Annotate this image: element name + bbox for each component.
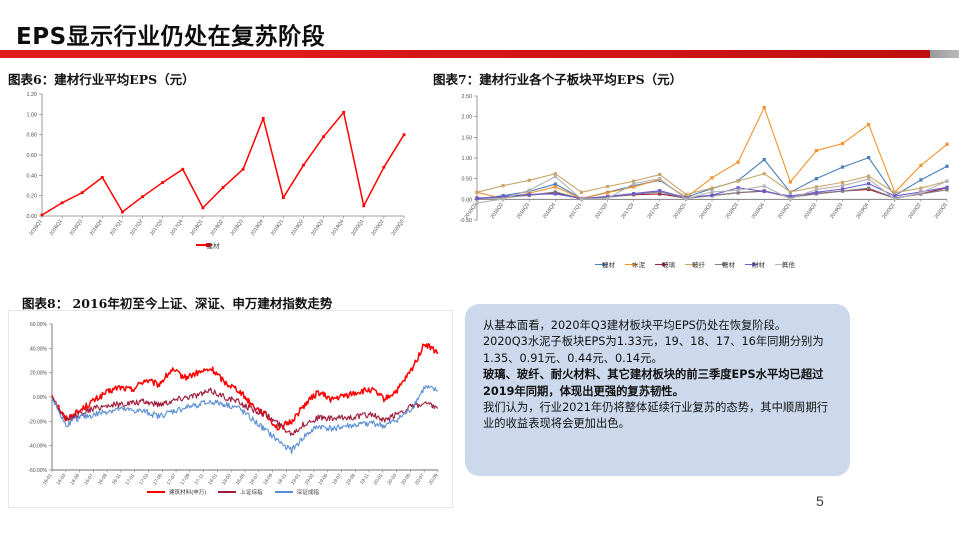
data-point: [554, 182, 557, 185]
x-tick-label: 2017Q1: [568, 202, 583, 220]
x-tick-label: 20-09: [428, 472, 440, 486]
x-tick-label: 2016Q3: [516, 202, 531, 220]
x-tick-label: 2016Q1: [29, 219, 44, 237]
y-tick-label: 0.00: [462, 197, 473, 203]
data-point: [121, 211, 124, 214]
data-point: [945, 143, 948, 146]
x-tick-label: 2018Q3: [725, 202, 740, 220]
data-point: [763, 190, 766, 193]
x-tick-label: 2019Q2: [803, 202, 818, 220]
data-point: [580, 191, 583, 194]
legend-item-其他[interactable]: 其他: [775, 260, 795, 269]
data-point: [403, 133, 406, 136]
data-point: [606, 197, 609, 200]
data-point: [710, 190, 713, 193]
legend-label: 建筑材料(申万): [169, 488, 206, 496]
data-point: [815, 188, 818, 191]
data-point: [815, 149, 818, 152]
y-tick-label: -20.00%: [28, 419, 47, 425]
x-tick-label: 18-05: [235, 472, 247, 486]
y-tick-label: 0.50: [462, 177, 473, 183]
data-point: [528, 179, 531, 182]
x-tick-label: 17-03: [138, 472, 150, 486]
legend-label: 深证成指: [297, 488, 319, 496]
legend-line-swatch: [275, 491, 293, 493]
x-tick-label: 18-07: [248, 472, 260, 486]
data-point: [763, 172, 766, 175]
callout-line: 我们认为，行业2021年仍将整体延续行业复苏的态势，其中顺周期行业的收益表现将会…: [483, 400, 834, 433]
data-point: [554, 172, 557, 175]
x-tick-label: 2020Q1: [350, 219, 365, 237]
data-point: [262, 117, 265, 120]
data-point: [919, 191, 922, 194]
chart-7-plot: -0.500.000.501.001.502.002.502016Q12016Q…: [435, 90, 955, 250]
x-tick-label: 16-09: [97, 472, 109, 486]
data-point: [554, 192, 557, 195]
x-tick-label: 19-07: [331, 472, 343, 486]
x-tick-label: 16-03: [55, 472, 67, 486]
x-tick-label: 2016Q4: [542, 202, 557, 220]
data-point: [632, 192, 635, 195]
legend-label: 建材: [602, 260, 615, 269]
data-point: [528, 189, 531, 192]
x-tick-label: 17-01: [124, 472, 136, 486]
x-tick-label: 2019Q1: [777, 202, 792, 220]
x-tick-label: 16-11: [111, 472, 123, 485]
data-point: [322, 135, 325, 138]
data-point: [242, 168, 245, 171]
x-tick-label: 2020Q2: [907, 202, 922, 220]
figure-7-title: 图表7：建材行业各个子板块平均EPS（元）: [433, 69, 682, 88]
x-tick-label: 2018Q4: [250, 219, 265, 237]
data-point: [789, 194, 792, 197]
legend-item-建材[interactable]: 建材: [595, 260, 615, 269]
x-tick-label: 2020Q3: [391, 219, 406, 237]
data-point: [41, 214, 44, 217]
data-point: [475, 201, 478, 204]
x-tick-label: 19-01: [290, 472, 302, 486]
x-tick-label: 2020Q3: [934, 202, 949, 220]
data-point: [815, 191, 818, 194]
y-tick-label: -40.00%: [28, 444, 47, 450]
data-point: [632, 182, 635, 185]
data-point: [867, 175, 870, 178]
x-tick-label: 2016Q2: [490, 202, 505, 220]
data-point: [580, 197, 583, 200]
data-point: [919, 178, 922, 181]
series-line-建材: [42, 112, 404, 215]
x-tick-label: 20-03: [386, 472, 398, 486]
x-tick-label: 2017Q4: [646, 202, 661, 220]
x-tick-label: 2017Q1: [109, 219, 124, 237]
data-point: [475, 197, 478, 200]
data-point: [362, 204, 365, 207]
data-point: [382, 166, 385, 169]
data-point: [684, 197, 687, 200]
data-point: [841, 181, 844, 184]
x-tick-label: 19-03: [304, 472, 316, 486]
data-point: [867, 156, 870, 159]
legend-label: 其他: [782, 260, 795, 269]
data-point: [893, 191, 896, 194]
x-tick-label: 16-07: [83, 472, 95, 486]
y-tick-label: 0.00: [27, 214, 38, 220]
y-tick-label: 20.00%: [30, 371, 48, 377]
x-tick-label: 2020Q1: [881, 202, 896, 220]
data-point: [919, 187, 922, 190]
y-tick-label: 2.00: [462, 115, 473, 121]
data-point: [554, 175, 557, 178]
figure-6-title: 图表6：建材行业平均EPS（元）: [8, 69, 195, 88]
data-point: [867, 187, 870, 190]
callout-line: 2020Q3水泥子板块EPS为1.33元，19、18、17、16年同期分别为1.…: [483, 334, 834, 367]
data-point: [81, 191, 84, 194]
data-point: [528, 193, 531, 196]
data-point: [502, 184, 505, 187]
x-tick-label: 19-11: [359, 472, 371, 485]
x-tick-label: 2019Q4: [855, 202, 870, 220]
data-point: [282, 196, 285, 199]
chart-figure-6: 0.000.200.400.600.801.001.202016Q12016Q2…: [8, 88, 408, 263]
data-point: [763, 158, 766, 161]
y-tick-label: 1.20: [27, 92, 38, 98]
data-point: [867, 182, 870, 185]
data-point: [945, 165, 948, 168]
legend-label: 建材: [207, 240, 220, 250]
x-tick-label: 2019Q2: [290, 219, 305, 237]
x-tick-label: 2018Q1: [189, 219, 204, 237]
summary-callout-box: 从基本面看，2020年Q3建材板块平均EPS仍处在恢复阶段。2020Q3水泥子板…: [465, 304, 850, 476]
page-title: EPS显示行业仍处在复苏阶段: [16, 17, 325, 51]
y-tick-label: 1.00: [27, 112, 38, 118]
data-point: [710, 187, 713, 190]
legend-item-玻璃[interactable]: 玻璃: [655, 260, 675, 269]
data-point: [181, 168, 184, 171]
data-point: [789, 180, 792, 183]
chart-6-legend: 建材: [8, 240, 408, 250]
x-tick-label: 2016Q2: [49, 219, 64, 237]
x-tick-label: 20-05: [400, 472, 412, 486]
data-point: [632, 185, 635, 188]
legend-item-建材[interactable]: 建材: [196, 240, 219, 250]
data-point: [789, 197, 792, 200]
data-point: [201, 206, 204, 209]
data-point: [710, 176, 713, 179]
data-point: [841, 184, 844, 187]
data-point: [141, 195, 144, 198]
data-point: [684, 193, 687, 196]
legend-item-管材[interactable]: 管材: [715, 260, 735, 269]
data-point: [867, 123, 870, 126]
legend-item-水泥[interactable]: 水泥: [625, 260, 645, 269]
data-point: [893, 197, 896, 200]
data-point: [867, 177, 870, 180]
legend-item-玻纤[interactable]: 玻纤: [685, 260, 705, 269]
data-point: [737, 161, 740, 164]
callout-line: 玻璃、玻纤、耐火材料、其它建材板块的前三季度EPS水平均已超过2019年同期，体…: [483, 367, 834, 400]
x-tick-label: 2019Q4: [330, 219, 345, 237]
legend-label: 管材: [722, 260, 735, 269]
data-point: [606, 191, 609, 194]
data-point: [161, 181, 164, 184]
x-tick-label: 2017Q3: [620, 202, 635, 220]
data-point: [919, 164, 922, 167]
x-tick-label: 2016Q3: [69, 219, 84, 237]
x-tick-label: 2017Q2: [129, 219, 144, 237]
x-tick-label: 2019Q3: [310, 219, 325, 237]
x-tick-label: 17-11: [194, 472, 206, 485]
legend-line-swatch: [218, 491, 236, 493]
chart-figure-7: -0.500.000.501.001.502.002.502016Q12016Q…: [435, 90, 955, 280]
chart-7-legend: 建材水泥玻璃玻纤管材耐材其他: [445, 260, 945, 269]
legend-item-深证成指[interactable]: 深证成指: [275, 488, 319, 496]
data-point: [710, 194, 713, 197]
y-tick-label: 0.60: [27, 153, 38, 159]
data-point: [502, 197, 505, 200]
x-tick-label: 16-05: [69, 472, 81, 486]
data-point: [61, 201, 64, 204]
x-tick-label: 2017Q4: [169, 219, 184, 237]
x-tick-label: 17-05: [152, 472, 164, 486]
data-point: [222, 186, 225, 189]
x-tick-label: 19-05: [317, 472, 329, 486]
chart-6-plot: 0.000.200.400.600.801.001.202016Q12016Q2…: [8, 88, 408, 238]
title-divider-bar: [0, 50, 959, 58]
y-tick-label: 1.50: [462, 135, 473, 141]
x-tick-label: 20-07: [414, 472, 426, 486]
x-tick-label: 20-01: [373, 472, 385, 486]
y-tick-label: 0.20: [27, 194, 38, 200]
y-tick-label: 0.00%: [33, 395, 48, 401]
data-point: [554, 185, 557, 188]
data-point: [841, 142, 844, 145]
data-point: [342, 111, 345, 114]
x-tick-label: 2016Q4: [89, 219, 104, 237]
chart-8-legend: 建筑材料(申万)上证综指深证成指: [68, 488, 398, 496]
x-tick-label: 2020Q2: [370, 219, 385, 237]
y-tick-label: 60.00%: [30, 322, 48, 328]
legend-item-上证综指[interactable]: 上证综指: [218, 488, 262, 496]
data-point: [737, 180, 740, 183]
legend-label: 上证综指: [240, 488, 262, 496]
x-tick-label: 16-01: [42, 472, 54, 486]
x-tick-label: 2017Q2: [594, 202, 609, 220]
legend-line-swatch: [147, 491, 165, 493]
x-tick-label: 17-09: [180, 472, 192, 486]
x-tick-label: 17-07: [166, 472, 178, 486]
chart-8-plot: 60.00%40.00%20.00%0.00%-20.00%-40.00%-60…: [8, 310, 453, 508]
series-line-建筑材料(申万): [52, 344, 438, 430]
y-tick-label: 0.80: [27, 133, 38, 139]
legend-item-耐材[interactable]: 耐材: [745, 260, 765, 269]
x-tick-label: 2017Q3: [149, 219, 164, 237]
data-point: [475, 191, 478, 194]
chart-figure-8: 60.00%40.00%20.00%0.00%-20.00%-40.00%-60…: [8, 310, 453, 508]
x-tick-label: 18-03: [221, 472, 233, 486]
data-point: [302, 164, 305, 167]
x-tick-label: 2018Q4: [751, 202, 766, 220]
legend-item-建筑材料(申万)[interactable]: 建筑材料(申万): [147, 488, 206, 496]
x-tick-label: 2018Q1: [672, 202, 687, 220]
legend-label: 耐材: [752, 260, 765, 269]
data-point: [789, 190, 792, 193]
data-point: [841, 165, 844, 168]
data-point: [815, 177, 818, 180]
data-point: [893, 194, 896, 197]
data-point: [763, 106, 766, 109]
legend-label: 水泥: [632, 260, 645, 269]
y-tick-label: 0.40: [27, 173, 38, 179]
x-tick-label: 2018Q3: [230, 219, 245, 237]
y-tick-label: -60.00%: [28, 468, 47, 474]
x-tick-label: 2019Q1: [270, 219, 285, 237]
data-point: [658, 177, 661, 180]
data-point: [606, 185, 609, 188]
data-point: [841, 187, 844, 190]
data-point: [658, 189, 661, 192]
y-tick-label: 1.00: [462, 156, 473, 162]
x-tick-label: 19-09: [345, 472, 357, 486]
legend-label: 玻璃: [662, 260, 675, 269]
x-tick-label: 2018Q2: [699, 202, 714, 220]
y-tick-label: 2.50: [462, 94, 473, 100]
callout-line: 从基本面看，2020年Q3建材板块平均EPS仍处在恢复阶段。: [483, 318, 834, 334]
data-point: [101, 176, 104, 179]
x-tick-label: 2019Q3: [829, 202, 844, 220]
data-point: [658, 173, 661, 176]
x-tick-label: 2018Q2: [210, 219, 225, 237]
data-point: [737, 189, 740, 192]
x-tick-label: 18-11: [276, 472, 288, 485]
data-point: [945, 180, 948, 183]
x-tick-label: 18-09: [262, 472, 274, 486]
legend-label: 玻纤: [692, 260, 705, 269]
x-tick-label: 18-01: [207, 472, 219, 486]
data-point: [763, 185, 766, 188]
y-tick-label: 40.00%: [30, 346, 48, 352]
data-point: [945, 186, 948, 189]
page-number: 5: [816, 493, 824, 509]
